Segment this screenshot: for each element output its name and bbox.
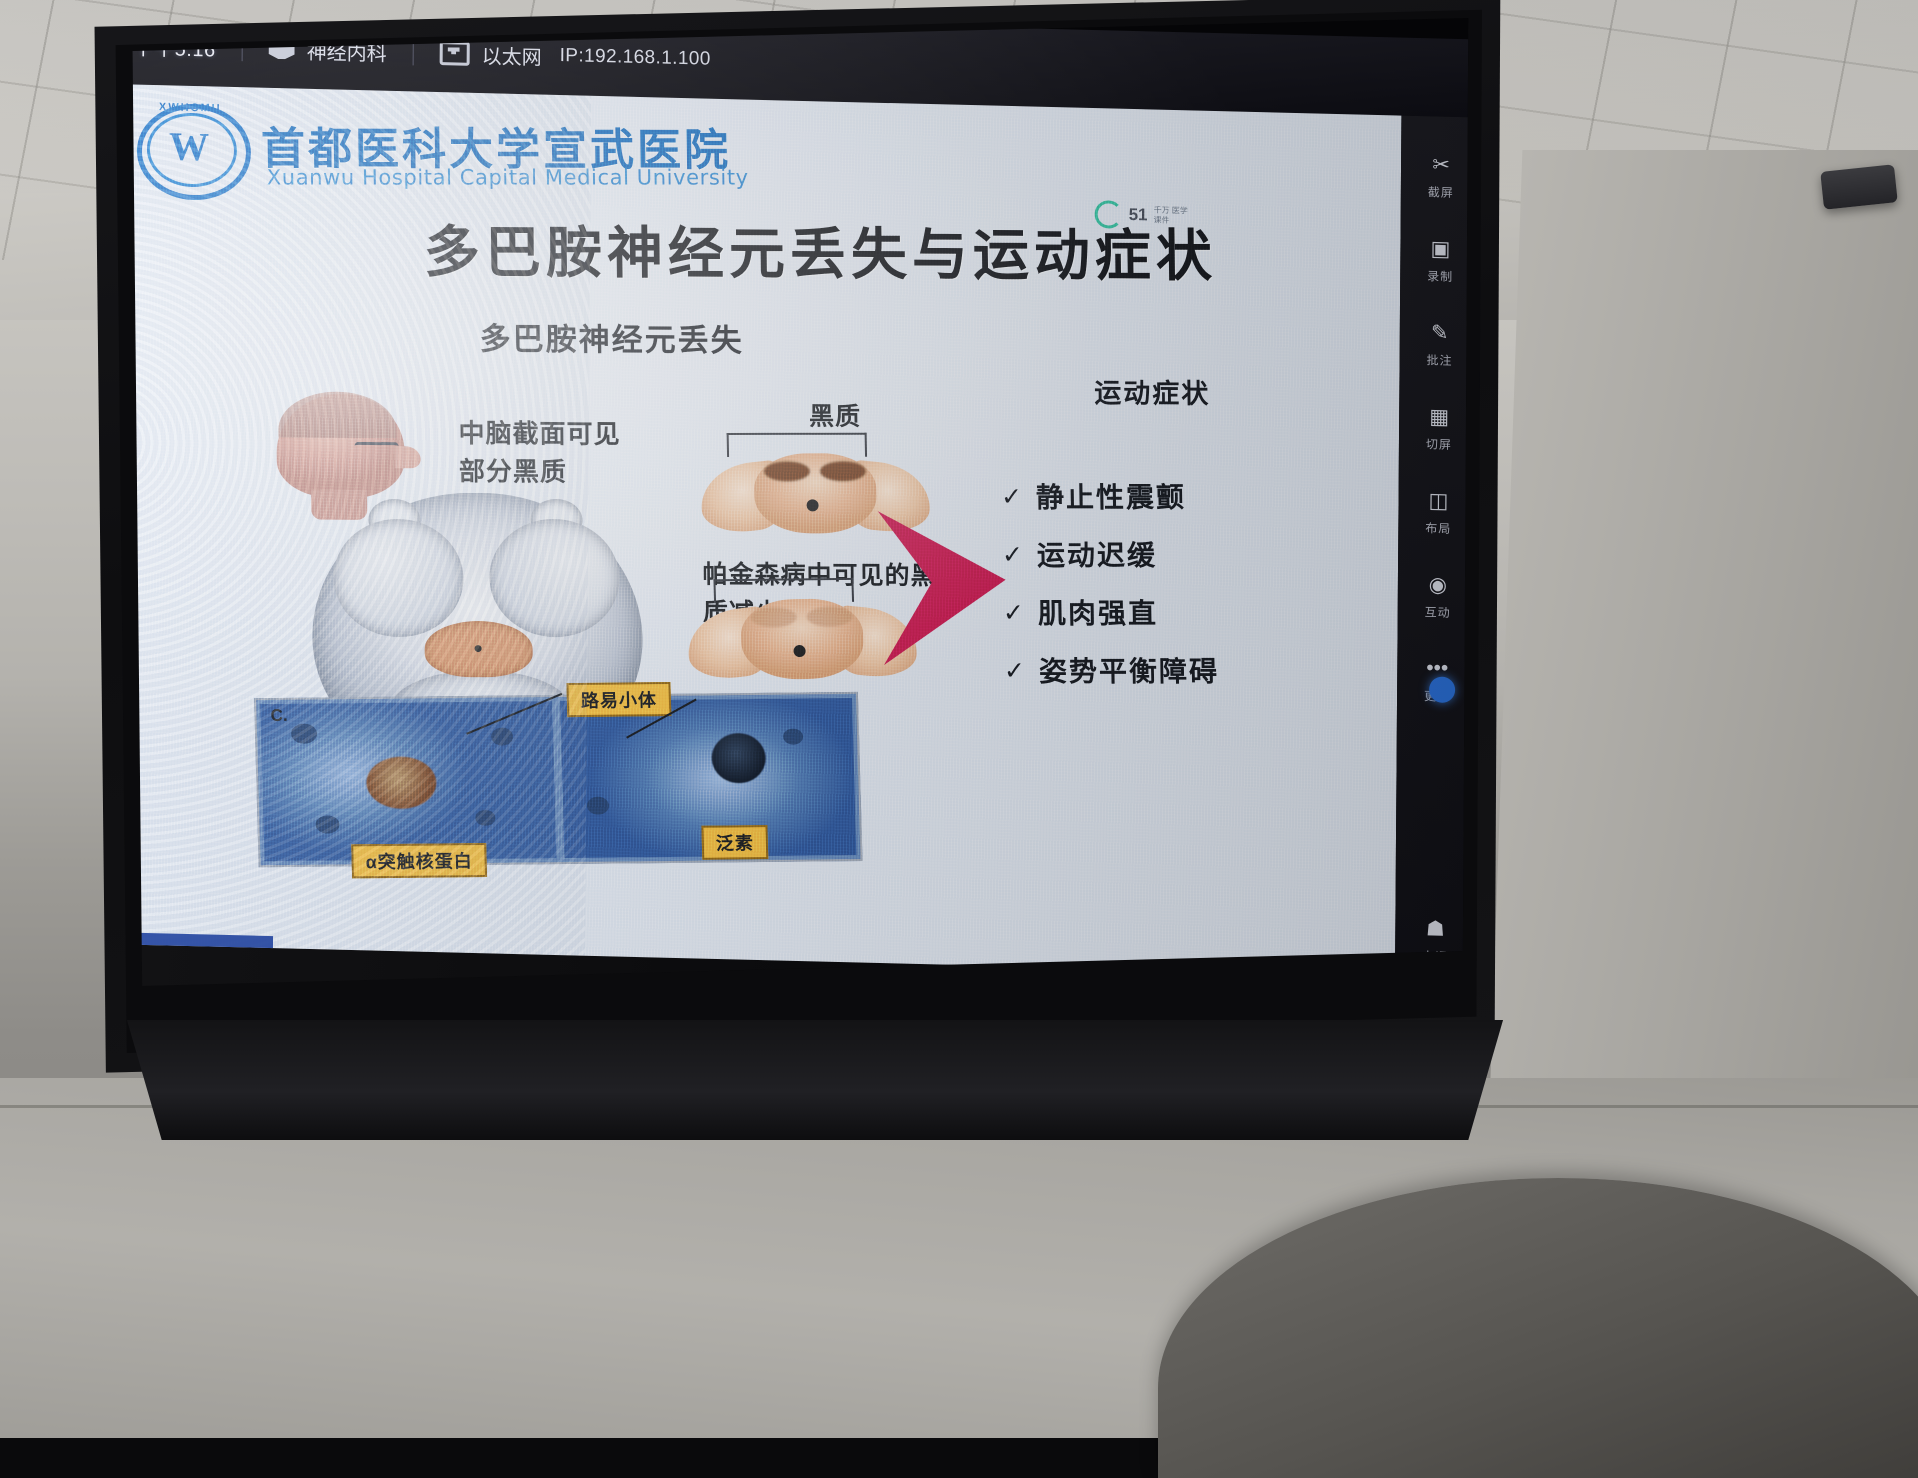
list-item: ✓ 静止性震颤: [1001, 482, 1342, 514]
class-icon: ☗: [1421, 914, 1449, 943]
ubiquitin-blob: [711, 733, 766, 784]
toolbar-label: 互动: [1425, 603, 1451, 621]
motor-symptom-list: ✓ 静止性震颤 ✓ 运动迟缓 ✓ 肌肉强直 ✓ 姿势平衡障碍: [1001, 482, 1345, 714]
pen-icon: ✎: [1426, 318, 1454, 347]
toolbar-label: 录制: [1427, 267, 1453, 285]
tag-lewy-body: 路易小体: [566, 682, 671, 717]
eyeglasses-detail: [355, 442, 399, 457]
list-item: ✓ 肌肉强直: [1003, 598, 1344, 630]
label-midbrain-line2: 部分黑质: [459, 452, 621, 491]
tag-ubiquitin: 泛素: [701, 825, 768, 860]
ethernet-icon: [440, 41, 470, 66]
list-item: ✓ 姿势平衡障碍: [1004, 656, 1345, 688]
hospital-logo-icon: XWHCMU W: [131, 96, 250, 199]
display-screen[interactable]: 下午5:16 神经内科 以太网 IP:192.168.1.100 X: [112, 6, 1482, 1006]
interact-icon: ◉: [1424, 570, 1452, 599]
red-arrow-icon: [876, 504, 1010, 670]
micrograph-figure: C.: [254, 692, 862, 867]
toolbar-label: 批注: [1427, 351, 1453, 369]
display-base-panel: [120, 1020, 1510, 1140]
micrograph-panel-left: [260, 701, 556, 861]
slide-title: 多巴胺神经元丢失与运动症状: [410, 207, 1231, 292]
symptom-label: 姿势平衡障碍: [1039, 656, 1220, 688]
label-midbrain-line1: 中脑截面可见: [458, 414, 620, 453]
record-icon: ▣: [1426, 234, 1454, 263]
check-icon: ✓: [1004, 656, 1025, 686]
check-icon: ✓: [1002, 540, 1023, 570]
lewy-body-blob: [366, 756, 437, 809]
status-network-label: 以太网: [482, 40, 542, 70]
list-item: ✓ 运动迟缓: [1002, 540, 1343, 572]
label-substantia-nigra: 黑质: [809, 397, 861, 433]
symptom-label: 静止性震颤: [1036, 482, 1187, 514]
symptom-label: 运动迟缓: [1037, 540, 1158, 572]
status-ip-address: IP:192.168.1.100: [560, 45, 711, 71]
check-icon: ✓: [1003, 598, 1024, 628]
layout-icon: ◫: [1424, 486, 1452, 515]
toolbar-label: 截屏: [1428, 183, 1454, 201]
tag-alpha-synuclein: α突触核蛋白: [351, 843, 487, 878]
micrograph-panel-letter: C.: [270, 706, 288, 726]
logo-mark: W: [157, 125, 221, 171]
scissors-icon: ✂: [1427, 150, 1455, 179]
symptom-label: 肌肉强直: [1038, 598, 1159, 630]
label-midbrain: 中脑截面可见 部分黑质: [458, 414, 621, 491]
check-icon: ✓: [1001, 482, 1022, 512]
toolbar-label: 布局: [1425, 519, 1451, 537]
section-heading-right: 运动症状: [1094, 371, 1210, 411]
hospital-name-en: Xuanwu Hospital Capital Medical Universi…: [267, 166, 749, 190]
status-network[interactable]: 以太网: [440, 39, 542, 70]
toolbar-label: 切屏: [1426, 435, 1452, 453]
presentation-slide[interactable]: XWHCMU W 首都医科大学宣武医院 Xuanwu Hospital Capi…: [105, 84, 1401, 976]
logo-abbr: XWHCMU: [145, 101, 235, 115]
interactive-display: 下午5:16 神经内科 以太网 IP:192.168.1.100 X: [0, 0, 1918, 1438]
split-screen-icon: ▦: [1425, 402, 1453, 431]
section-heading-left: 多巴胺神经元丢失: [479, 313, 743, 360]
toolbar-status-indicator[interactable]: [1429, 676, 1455, 703]
